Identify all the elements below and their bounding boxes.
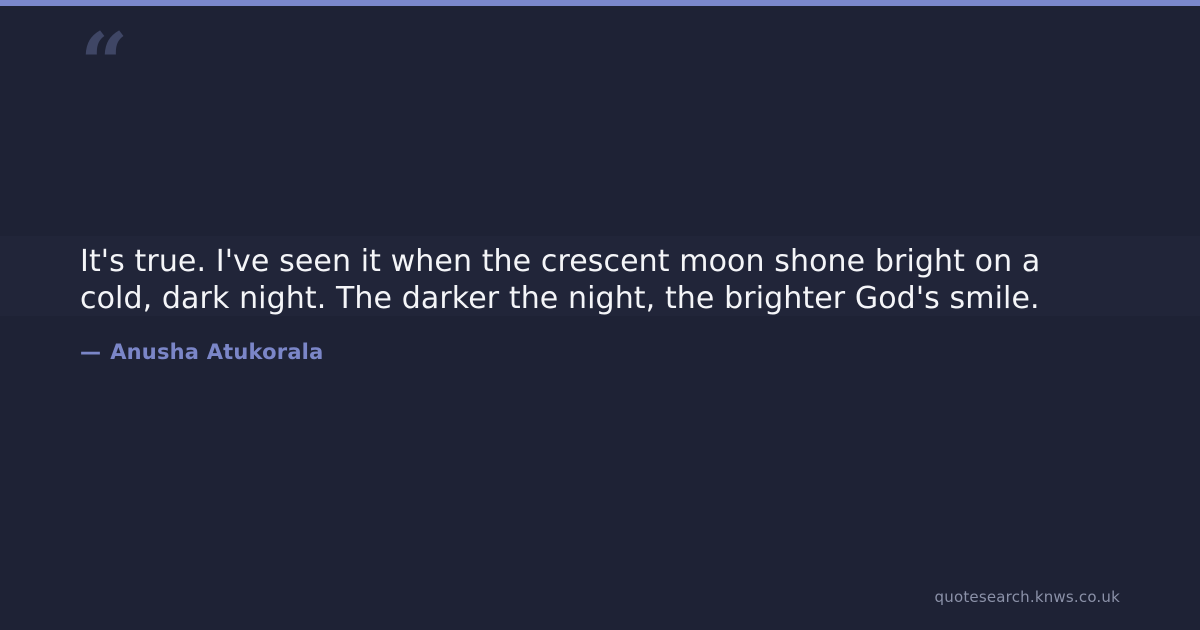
attribution: —Anusha Atukorala bbox=[80, 338, 323, 366]
attribution-dash: — bbox=[80, 340, 101, 364]
top-accent-bar bbox=[0, 0, 1200, 6]
author-name: Anusha Atukorala bbox=[110, 340, 323, 364]
site-watermark: quotesearch.knws.co.uk bbox=[935, 588, 1120, 606]
quote-card: “ It's true. I've seen it when the cresc… bbox=[0, 0, 1200, 630]
open-quote-icon: “ bbox=[80, 22, 126, 106]
quote-text: It's true. I've seen it when the crescen… bbox=[80, 243, 1120, 317]
